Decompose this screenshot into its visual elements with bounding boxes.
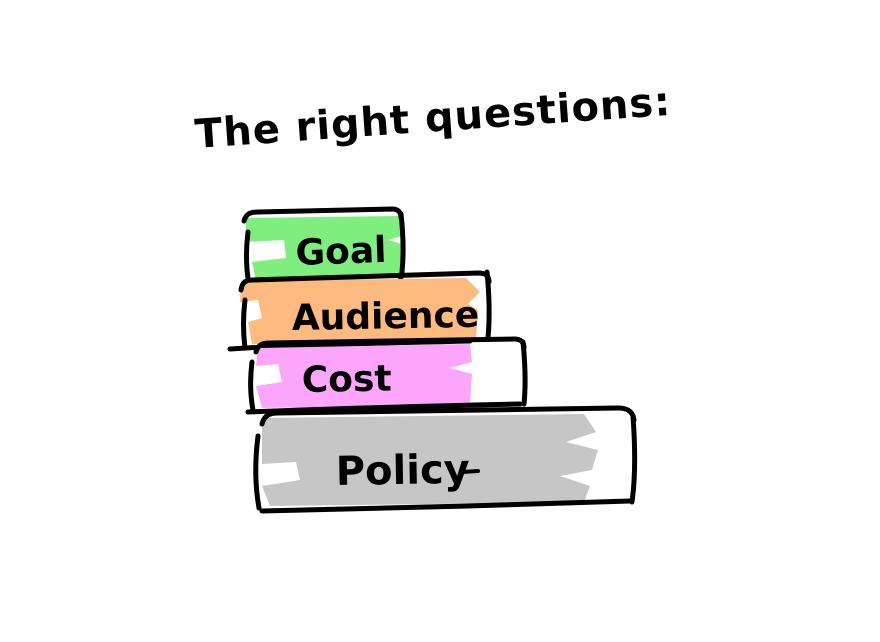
box-label-audience: Audience — [291, 295, 479, 339]
page-title-text: The right questions: — [193, 79, 672, 158]
sketch-canvas: The right questions: Goal Audience — [0, 0, 880, 642]
box-outline-audience-left — [244, 300, 246, 348]
box-outline-goal-left — [247, 232, 249, 278]
policy-trailing-dash — [462, 471, 478, 472]
box-outline-cost-right — [523, 342, 525, 404]
question-box-policy[interactable]: Policy — [256, 408, 635, 511]
box-label-goal: Goal — [295, 230, 387, 274]
box-label-cost: Cost — [301, 358, 391, 401]
box-outline-policy-right — [632, 416, 635, 502]
box-outline-cost-left — [251, 362, 253, 410]
hand-drawn-diagram: The right questions: Goal Audience — [0, 0, 880, 642]
box-outline-audience-right — [487, 272, 489, 338]
box-label-policy: Policy — [335, 447, 470, 495]
box-outline-policy-left — [256, 436, 259, 508]
page-title: The right questions: — [193, 79, 672, 158]
question-box-cost[interactable]: Cost — [248, 339, 525, 414]
